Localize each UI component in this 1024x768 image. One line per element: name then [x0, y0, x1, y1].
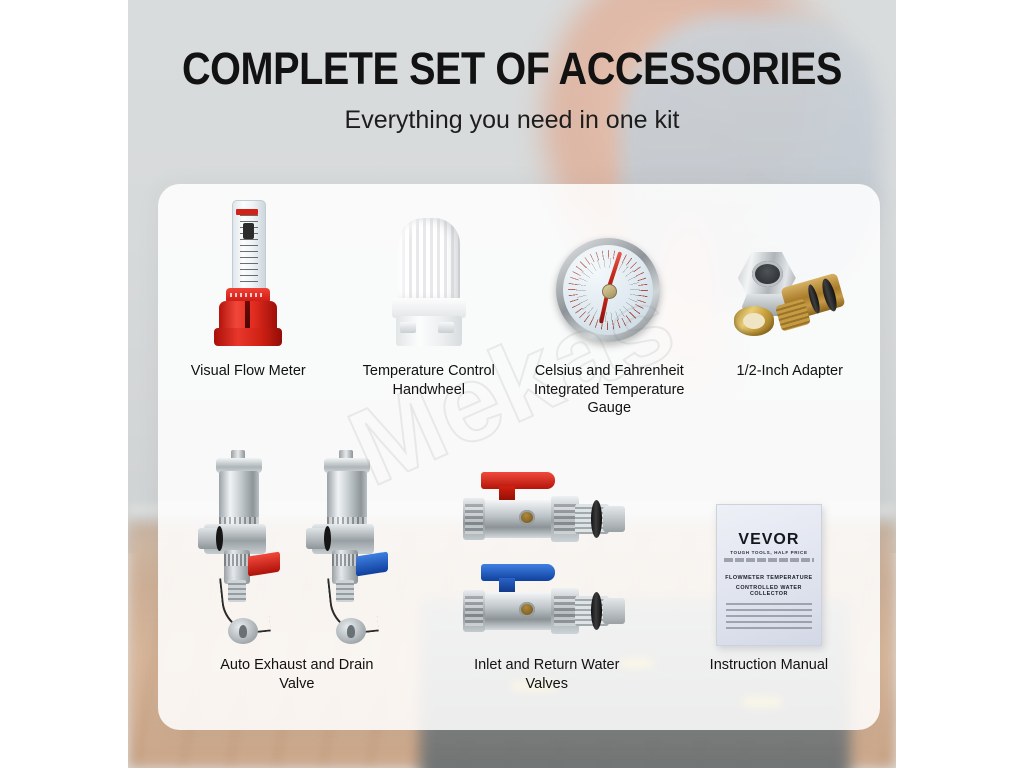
accessory-label: 1/2-Inch Adapter: [705, 362, 875, 381]
valve-handle-red: [481, 472, 555, 489]
manual-tagline: TOUGH TOOLS, HALF PRICE: [717, 550, 821, 555]
accessory-instruction-manual[interactable]: VEVOR TOUGH TOOLS, HALF PRICE FLOWMETER …: [658, 446, 880, 693]
handwheel-neck: [392, 298, 466, 318]
handwheel-image: [386, 198, 472, 348]
flow-meter-image: [213, 198, 283, 348]
valve-side-port: [519, 510, 535, 525]
drain-cap: [336, 618, 366, 644]
valve-female-nut: [463, 590, 485, 632]
manual-fine-print: [724, 558, 814, 562]
adapter-brass-split-ring: [734, 306, 774, 336]
temperature-gauge-icon: [554, 236, 664, 348]
adapter-icon: [732, 250, 848, 348]
accessory-label: Visual Flow Meter: [163, 362, 333, 381]
valve-o-ring: [324, 526, 331, 551]
valve-female-nut: [463, 498, 485, 540]
flow-meter-base: [214, 328, 282, 346]
adapter-thread-bore: [752, 261, 783, 287]
auto-exhaust-image: [198, 446, 396, 646]
gauge-glass-reflection: [563, 245, 653, 335]
accessory-auto-exhaust-and-drain-valve[interactable]: Auto Exhaust and Drain Valve: [158, 446, 436, 693]
accessory-label: Inlet and Return Water Valves: [462, 656, 632, 693]
accessory-temperature-gauge[interactable]: Celsius and Fahrenheit Integrated Temper…: [519, 198, 700, 418]
flow-meter-icon: [213, 200, 283, 348]
auto-exhaust-valve-red: [198, 450, 288, 646]
manual-brand: VEVOR: [717, 531, 821, 549]
accessory-half-inch-adapter[interactable]: 1/2-Inch Adapter: [700, 198, 881, 418]
ball-valve-red: [463, 472, 631, 554]
auto-exhaust-valve-blue: [306, 450, 396, 646]
handwheel-window: [400, 322, 416, 333]
accessory-label: Instruction Manual: [684, 656, 854, 675]
manual-title-line2: CONTROLLED WATER COLLECTOR: [717, 585, 821, 597]
manual-title-line1: FLOWMETER TEMPERATURE: [717, 575, 821, 581]
valve-o-ring: [591, 592, 602, 630]
flow-meter-tube: [232, 200, 266, 294]
valve-o-ring: [216, 526, 223, 551]
flow-meter-float: [243, 223, 254, 239]
valve-body: [219, 471, 259, 529]
valve-end-tip: [603, 506, 625, 532]
adapter-image: [732, 198, 848, 348]
accessory-row: Visual Flow Meter Temperature Control Ha…: [158, 198, 880, 418]
ball-valve-image: [463, 446, 631, 646]
drain-cap: [228, 618, 258, 644]
valve-body: [327, 471, 367, 529]
manual-image: VEVOR TOUGH TOOLS, HALF PRICE FLOWMETER …: [716, 446, 822, 646]
valve-side-port: [519, 602, 535, 617]
handwheel-icon: [386, 218, 472, 348]
gauge-image: [554, 198, 664, 348]
instruction-manual-icon: VEVOR TOUGH TOOLS, HALF PRICE FLOWMETER …: [716, 504, 822, 646]
valve-end-tip: [603, 598, 625, 624]
valve-o-ring: [591, 500, 602, 538]
product-infographic: COMPLETE SET OF ACCESSORIES Everything y…: [128, 0, 896, 768]
accessory-row: Auto Exhaust and Drain Valve: [158, 446, 880, 693]
header-block: COMPLETE SET OF ACCESSORIES Everything y…: [128, 0, 896, 135]
valve-handle-blue: [481, 564, 555, 581]
handwheel-window: [438, 322, 454, 333]
accessory-label: Celsius and Fahrenheit Integrated Temper…: [524, 362, 694, 418]
accessory-label: Temperature Control Handwheel: [344, 362, 514, 399]
accessories-card: Visual Flow Meter Temperature Control Ha…: [158, 184, 880, 730]
screenshot-stage: COMPLETE SET OF ACCESSORIES Everything y…: [0, 0, 1024, 768]
accessory-label: Auto Exhaust and Drain Valve: [212, 656, 382, 693]
accessory-temperature-control-handwheel[interactable]: Temperature Control Handwheel: [339, 198, 520, 418]
page-title: COMPLETE SET OF ACCESSORIES: [174, 0, 850, 92]
page-subtitle: Everything you need in one kit: [128, 92, 896, 135]
accessory-inlet-and-return-water-valves[interactable]: Inlet and Return Water Valves: [436, 446, 658, 693]
manual-body-text: [726, 603, 812, 633]
ball-valve-blue: [463, 564, 631, 646]
handwheel-cap: [398, 218, 460, 302]
accessory-visual-flow-meter[interactable]: Visual Flow Meter: [158, 198, 339, 418]
